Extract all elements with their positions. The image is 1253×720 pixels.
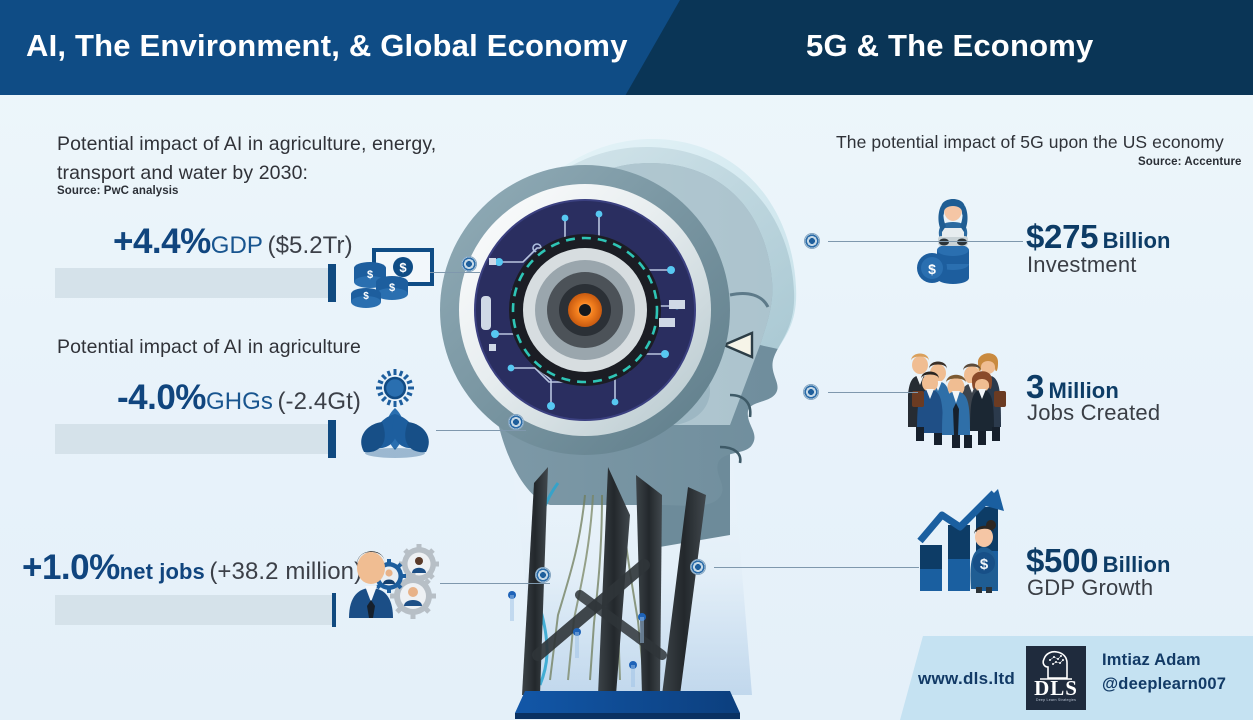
progress-bar-jobs <box>55 595 332 625</box>
connector-line-jobs-right <box>828 392 918 393</box>
dls-logo-subtitle: Deep Learn Strategies <box>1026 698 1086 702</box>
connector-line-gdp <box>430 272 480 273</box>
right-stat-number-investment: $275 <box>1026 218 1098 255</box>
progress-bar-gdp <box>55 268 332 298</box>
right-stat-number-gdp: $500 <box>1026 542 1098 579</box>
svg-text:$: $ <box>980 556 989 573</box>
stat-value-gdp: +4.4% <box>113 222 211 261</box>
connector-node-jobs <box>535 567 551 583</box>
stat-line-ghgs: -4.0%GHGs (-2.4Gt) <box>117 378 361 418</box>
header-title-right: 5G & The Economy <box>806 28 1093 64</box>
right-stat-investment: $275 Billion <box>1026 218 1171 256</box>
svg-text:$: $ <box>928 261 936 277</box>
infographic-canvas: AI, The Environment, & Global Economy 5G… <box>0 0 1253 720</box>
stat-detail-jobs: (+38.2 million) <box>209 558 362 585</box>
progress-bar-marker-gdp <box>328 264 336 302</box>
stat-line-jobs: +1.0%net jobs (+38.2 million) <box>22 548 362 588</box>
progress-bar-marker-jobs <box>332 593 336 627</box>
right-stat-unit-gdp: Billion <box>1103 552 1171 577</box>
left-second-lead: Potential impact of AI in agriculture <box>57 333 457 362</box>
stat-line-gdp: +4.4%GDP ($5.2Tr) <box>113 222 353 262</box>
stat-detail-gdp: ($5.2Tr) <box>267 232 352 259</box>
footer-url[interactable]: www.dls.ltd <box>918 669 1015 689</box>
connector-node-gdp-right <box>690 559 706 575</box>
connector-node-investment <box>804 233 820 249</box>
dls-logo: DLS Deep Learn Strategies <box>1026 646 1086 710</box>
svg-text:$: $ <box>389 282 395 294</box>
footer-handle[interactable]: @deeplearn007 <box>1102 675 1226 694</box>
connector-node-gdp <box>461 256 477 272</box>
left-source: Source: PwC analysis <box>57 185 179 197</box>
header-title-left: AI, The Environment, & Global Economy <box>26 28 628 64</box>
connector-line-investment <box>828 241 1023 242</box>
right-stat-desc-investment: Investment <box>1027 252 1137 278</box>
connector-line-ghgs <box>436 430 526 431</box>
progress-bar-marker-ghgs <box>328 420 336 458</box>
stat-value-ghgs: -4.0% <box>117 378 206 417</box>
people-gears-icon <box>345 538 445 620</box>
stat-value-jobs: +1.0% <box>22 548 120 587</box>
right-stat-desc-gdp: GDP Growth <box>1027 575 1153 601</box>
connector-line-gdp-right <box>714 567 919 568</box>
stat-detail-ghgs: (-2.4Gt) <box>277 388 360 415</box>
left-lead-text: Potential impact of AI in agriculture, e… <box>57 130 457 188</box>
right-stat-unit-investment: Billion <box>1103 228 1171 253</box>
ai-robot-head-graphic <box>430 95 850 720</box>
svg-text:$: $ <box>367 269 373 281</box>
right-source: Source: Accenture <box>1138 156 1242 168</box>
footer-author: Imtiaz Adam <box>1102 651 1201 670</box>
connector-line-jobs <box>440 583 550 584</box>
woman-laptop-coins-icon: $ <box>915 192 997 302</box>
left-lead-line2: transport and water by 2030: <box>57 162 308 184</box>
lotus-sun-icon <box>352 362 438 462</box>
progress-bar-ghgs <box>55 424 332 454</box>
svg-text:$: $ <box>363 291 369 302</box>
stat-unit-gdp: GDP <box>211 232 263 259</box>
right-lead-text: The potential impact of 5G upon the US e… <box>836 132 1224 153</box>
money-banknote-coins-icon: $ $ $ $ <box>348 238 438 308</box>
left-lead-line1: Potential impact of AI in agriculture, e… <box>57 133 436 155</box>
header-bar: AI, The Environment, & Global Economy 5G… <box>0 0 1253 95</box>
connector-node-ghgs <box>508 414 524 430</box>
stat-unit-jobs: net jobs <box>120 559 205 584</box>
svg-text:$: $ <box>399 260 407 275</box>
stat-unit-ghgs: GHGs <box>206 388 273 415</box>
business-people-group-icon <box>908 345 1008 450</box>
connector-node-jobs-right <box>803 384 819 400</box>
right-stat-desc-jobs: Jobs Created <box>1027 400 1160 426</box>
growth-bar-chart-icon: $ <box>912 485 1017 597</box>
